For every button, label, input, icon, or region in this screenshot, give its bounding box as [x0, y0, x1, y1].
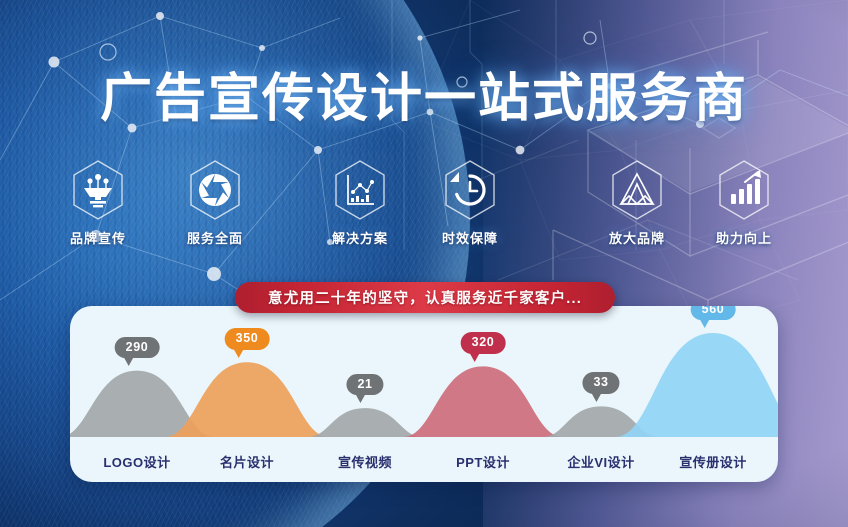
- axis-label-1: 名片设计: [220, 452, 274, 471]
- analytics-chart-icon: [328, 158, 392, 222]
- feature-item-brand[interactable]: 品牌宣传: [44, 158, 152, 247]
- clock-history-icon: [438, 158, 502, 222]
- value-bubble-tail-2: [355, 394, 365, 403]
- value-bubble-5: 560: [691, 306, 736, 328]
- feature-item-solution[interactable]: 解决方案: [306, 158, 414, 247]
- bell-shape-2: [307, 408, 422, 437]
- value-bubble-label-1: 350: [225, 328, 270, 349]
- axis-label-3: PPT设计: [456, 452, 510, 471]
- chart-plot-area: [70, 306, 778, 444]
- value-bubble-3: 320: [461, 332, 506, 361]
- bell-shape-5: [615, 333, 778, 437]
- value-bubble-label-5: 560: [691, 306, 736, 320]
- feature-label-timeliness: 时效保障: [416, 228, 524, 247]
- feature-item-amplify[interactable]: 放大品牌: [583, 158, 691, 247]
- chart-card: 290 350 21 320 33 560 LOGO设计 名片设计 宣传视频: [70, 306, 778, 482]
- axis-label-5: 宣传册设计: [679, 452, 747, 471]
- value-bubble-label-3: 320: [461, 332, 506, 353]
- feature-label-solution: 解决方案: [306, 228, 414, 247]
- value-bubble-label-2: 21: [346, 374, 383, 395]
- promo-banner[interactable]: 意尤用二十年的坚守，认真服务近千家客户...: [235, 282, 615, 313]
- feature-label-growth: 助力向上: [690, 228, 798, 247]
- feature-label-service: 服务全面: [161, 228, 269, 247]
- bell-shape-1: [165, 362, 330, 437]
- poster-canvas: 广告宣传设计一站式服务商: [0, 0, 848, 527]
- bell-curve-bars: [70, 306, 778, 444]
- feature-item-growth[interactable]: 助力向上: [690, 158, 798, 247]
- value-bubble-tail-1: [234, 349, 244, 358]
- feature-icon-row: 品牌宣传 服务全面: [0, 158, 848, 258]
- feature-label-brand: 品牌宣传: [44, 228, 152, 247]
- value-bubble-label-0: 290: [115, 337, 160, 358]
- value-bubble-tail-5: [700, 319, 710, 328]
- triangle-layers-icon: [605, 158, 669, 222]
- bell-shape-3: [403, 366, 563, 437]
- feature-item-timeliness[interactable]: 时效保障: [416, 158, 524, 247]
- axis-label-2: 宣传视频: [338, 452, 392, 471]
- value-bubble-tail-4: [591, 393, 601, 402]
- camera-aperture-icon: [183, 158, 247, 222]
- page-title: 广告宣传设计一站式服务商: [0, 56, 848, 131]
- value-bubble-1: 350: [225, 328, 270, 357]
- bar-growth-arrow-icon: [712, 158, 776, 222]
- brand-megaphone-icon: [66, 158, 130, 222]
- value-bubble-0: 290: [115, 337, 160, 366]
- promo-banner-text: 意尤用二十年的坚守，认真服务近千家客户...: [268, 287, 582, 308]
- feature-label-amplify: 放大品牌: [583, 228, 691, 247]
- feature-item-service[interactable]: 服务全面: [161, 158, 269, 247]
- chart-x-axis: LOGO设计 名片设计 宣传视频 PPT设计 企业VI设计 宣传册设计: [70, 444, 778, 482]
- value-bubble-4: 33: [582, 372, 619, 401]
- axis-label-0: LOGO设计: [103, 452, 170, 471]
- value-bubble-label-4: 33: [582, 372, 619, 393]
- value-bubble-2: 21: [346, 374, 383, 403]
- value-bubble-tail-0: [124, 357, 134, 366]
- value-bubble-tail-3: [470, 353, 480, 362]
- axis-label-4: 企业VI设计: [567, 452, 634, 471]
